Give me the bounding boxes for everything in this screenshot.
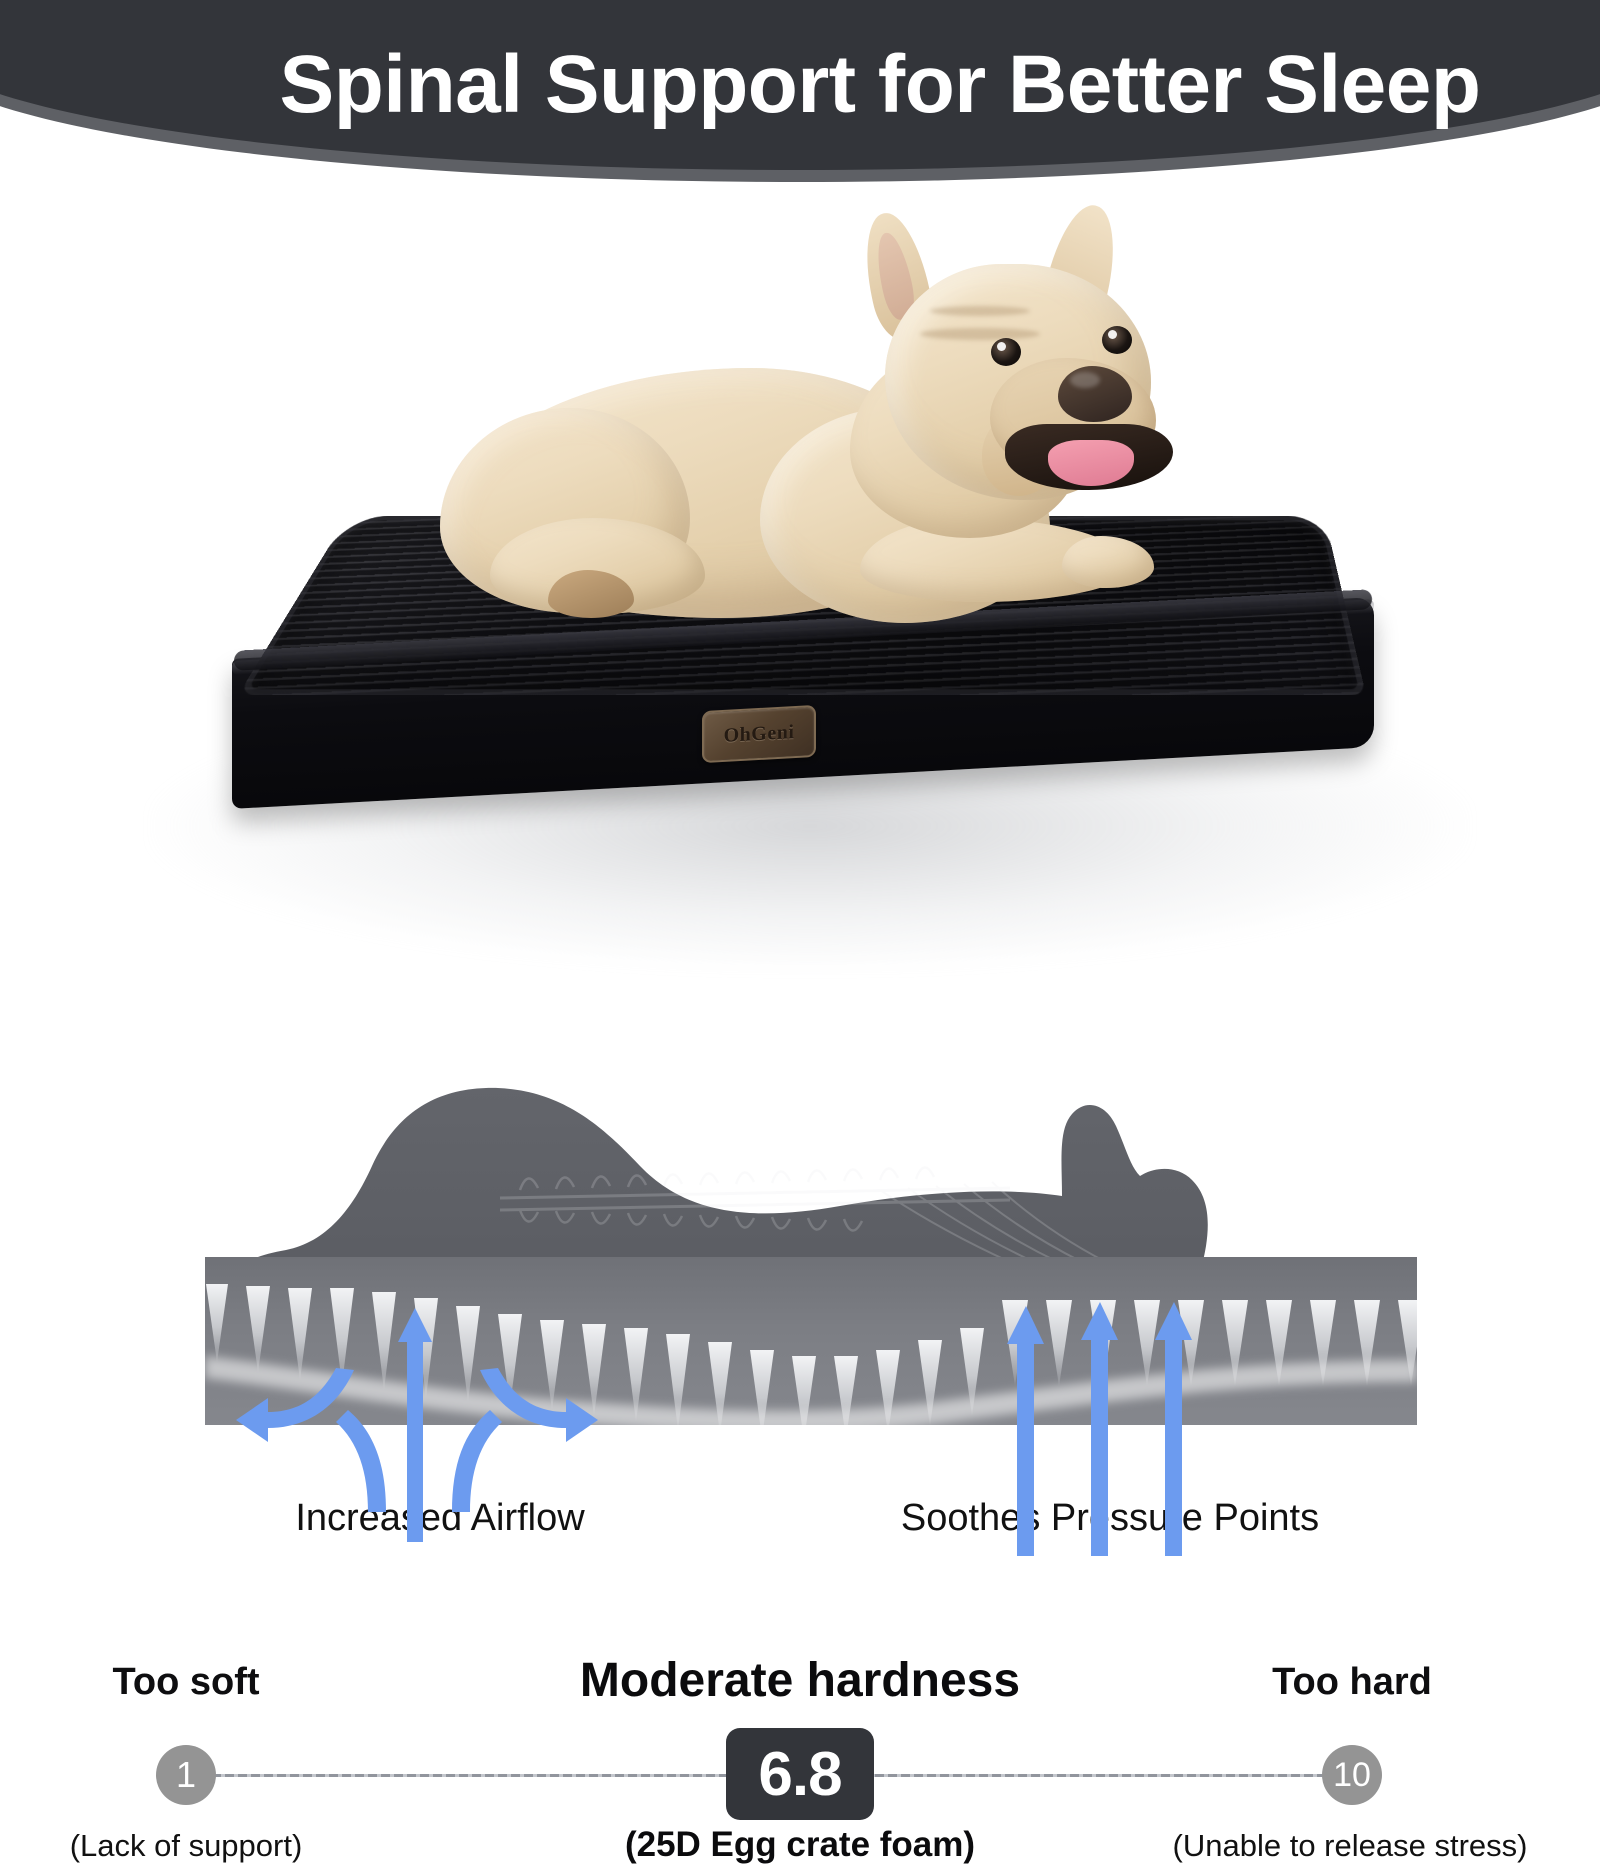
dog-forehead-wrinkle-2 (930, 306, 1030, 316)
hardness-score-badge: 6.8 (726, 1728, 874, 1820)
dog-right-eye-glint (1108, 330, 1117, 339)
dog-left-eye (991, 338, 1021, 366)
hardness-scale: Too soft 1 (Lack of support) Moderate ha… (0, 828, 1600, 1048)
dog-forehead-wrinkle (920, 328, 1040, 340)
scale-min-label: Too soft (36, 1661, 336, 1704)
scale-current-sublabel: (25D Egg crate foam) (470, 1825, 1130, 1865)
dog-illustration (430, 218, 1190, 668)
page-title: Spinal Support for Better Sleep (0, 0, 1600, 170)
scale-current-label: Moderate hardness (470, 1653, 1130, 1708)
scale-min-sublabel: (Lack of support) (36, 1828, 336, 1864)
dog-right-eye (1102, 326, 1132, 354)
scale-max-label: Too hard (1182, 1661, 1522, 1704)
brand-logo-tag: OhGeni (702, 705, 816, 763)
dog-fore-paw (1062, 536, 1154, 588)
scale-max-sublabel: (Unable to release stress) (1090, 1828, 1600, 1864)
brand-logo-text: OhGeni (724, 721, 795, 748)
scale-max-marker: 10 (1322, 1745, 1382, 1805)
product-hero-image: OhGeni (0, 170, 1600, 840)
dog-left-eye-glint (997, 342, 1006, 351)
scale-min-marker: 1 (156, 1745, 216, 1805)
foam-cross-section-diagram (0, 1070, 1600, 1600)
egg-crate-foam-block (205, 1257, 1424, 1440)
dog-nose-highlight (1070, 372, 1100, 388)
